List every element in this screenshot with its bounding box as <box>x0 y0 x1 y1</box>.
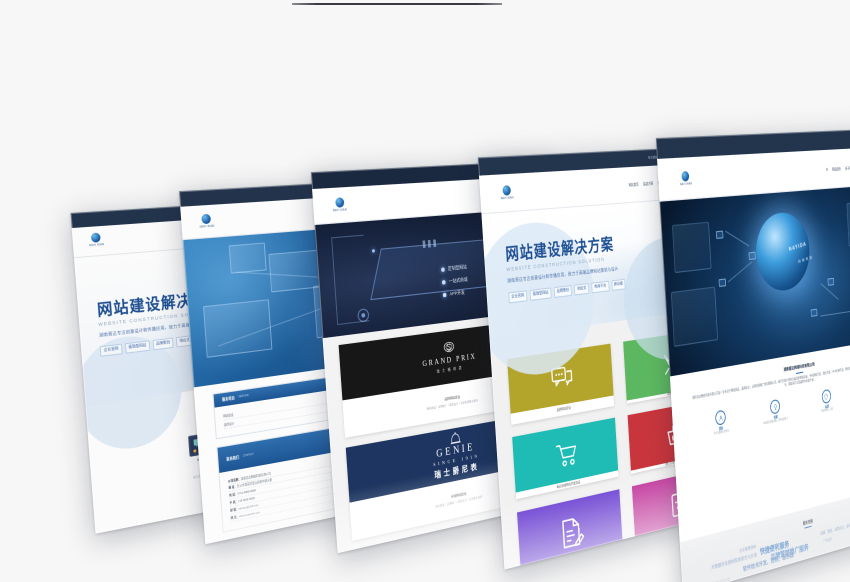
panel2-contact-label-4: 邮 箱： <box>230 508 239 513</box>
panel2-contact-value-3: 138 8888 8888 <box>238 497 255 504</box>
panel5-nav-item-1[interactable]: 关于我们 <box>845 165 850 171</box>
panel2-block-service-title-en: SERVICE <box>238 394 248 399</box>
nav-bullet-icon <box>826 167 828 170</box>
panel4-tag-0[interactable]: 企业官网 <box>508 290 528 303</box>
panel5-feature-0-desc: 专注互联网行业多年 <box>714 430 730 436</box>
panel3-logo[interactable]: NAYI XIAN <box>326 194 353 217</box>
panel3-logo-text: NAYI XIAN <box>333 208 347 212</box>
shopping-cart-icon <box>542 437 591 471</box>
panel5-feature-2-desc: 严格把控每一环节 <box>821 408 833 414</box>
panel2-logo[interactable]: NAYI XIAN <box>193 211 219 232</box>
panel1-logo-text: NAYI XIAN <box>89 243 104 247</box>
panel5-nav-item-0[interactable]: 网站首页 <box>832 165 841 171</box>
grand-prix-logo-icon <box>442 341 457 354</box>
panel5-logo-text: NAYI XIAN <box>680 182 692 186</box>
globe-node-2 <box>748 251 755 259</box>
panel4-tag-5[interactable]: 移动端 <box>611 279 626 291</box>
shield-icon <box>821 389 831 404</box>
panel2-block-service-title: 服务项目 <box>222 395 235 402</box>
globe-edge-1 <box>725 231 749 247</box>
panel3-hero-bars <box>423 240 437 249</box>
globe-node-3 <box>719 278 727 287</box>
lightbulb-icon <box>770 399 780 415</box>
globe-edge-4 <box>820 310 850 316</box>
panel2-contact-label-5: 网 址： <box>231 515 240 520</box>
panel2-block-contact-title-en: CONTACT <box>243 452 254 457</box>
panel4-logo-text: NAYI XIAN <box>501 197 514 201</box>
panel3-hero-node <box>372 249 375 253</box>
panel2-contact-label-0: 公司名称： <box>228 477 241 483</box>
cloud-tag-5[interactable]: 品牌、策划、创意设计、全网品牌推广 <box>820 520 850 536</box>
globe-bg-square-1 <box>672 222 711 273</box>
panel4-nav-item-0[interactable]: 网站首页 <box>628 182 638 188</box>
globe-bg-square-3 <box>847 200 850 246</box>
panel4-tag-4[interactable]: 电商平台 <box>591 280 609 293</box>
cloud-tag-8[interactable]: 网站建设运营 <box>715 577 730 582</box>
panel5-feature-0[interactable]: 团队 专注互联网行业多年 <box>695 406 746 440</box>
service-tile-4[interactable]: 软文推广 新闻 媒体发布 <box>517 489 624 570</box>
panel5-feature-1-desc: 原创设计精益求精，坚持品质至上 <box>764 418 789 426</box>
panel5-feature-1[interactable]: 创意 原创设计精益求精，坚持品质至上 <box>751 395 799 428</box>
globe-edge-2 <box>728 261 753 283</box>
panel5-hero-globe: NAYIDA 网络科技 <box>660 183 850 376</box>
panel4-logo[interactable]: NAYI XIAN <box>493 181 521 206</box>
website-mockup-panel-5[interactable]: 湖南营达网络科技有限公司 NAYI XIAN 网站首页 关于我们 服务项目 案例… <box>656 128 850 582</box>
panel2-contact-label-1: 地 址： <box>228 486 237 491</box>
panel5-feature-2[interactable]: 品质 严格把控每一环节 <box>804 386 849 418</box>
panel4-nav-item-1[interactable]: 建站方案 <box>643 181 653 187</box>
globe-node-5 <box>811 309 818 317</box>
panel2-contact-label-3: 手 机： <box>230 500 239 505</box>
bullet-dot-icon <box>443 293 446 297</box>
service-tile-4-color <box>517 489 623 570</box>
panel4-tag-3[interactable]: 响应式 <box>574 283 589 296</box>
user-icon <box>715 410 726 426</box>
showcase-stage: 专业网站建设 品牌网站设计 营销型网站制作 手机网站开发 NAYI XIAN 网… <box>0 0 850 582</box>
service-tile-2[interactable]: 电商商城网站开发建设 <box>512 418 619 500</box>
panel5-logo[interactable]: NAYI XIAN <box>671 164 699 191</box>
globe-edge-3 <box>820 283 838 300</box>
tech-rect-5 <box>229 243 267 274</box>
panel1-tag-2[interactable]: 品牌策划 <box>152 337 173 350</box>
globe-bg-square-2 <box>670 286 718 346</box>
globe-node-1 <box>716 231 724 240</box>
panel2-logo-text: NAYI XIAN <box>200 225 215 229</box>
panel5-about-divider <box>796 372 803 375</box>
panel1-logo[interactable]: NAYI XIAN <box>84 231 109 251</box>
panel2-block-contact-title: 联系我们 <box>226 454 239 462</box>
orb-logo-icon <box>91 233 101 243</box>
panel4-tag-2[interactable]: 品牌策划 <box>554 285 573 298</box>
globe-sphere-icon <box>754 210 812 294</box>
top-rule <box>292 3 502 5</box>
globe-node-4 <box>828 278 835 286</box>
orb-logo-icon <box>202 214 212 225</box>
grand-prix-name-cn: 瑞士格林表 <box>436 365 464 374</box>
document-edit-icon <box>547 512 596 553</box>
panel5-navlinks[interactable]: 网站首页 关于我们 服务项目 案例展示 联系我们 <box>826 162 850 171</box>
orb-logo-icon <box>502 186 511 197</box>
panel2-contact-label-2: 电 话： <box>229 493 238 498</box>
orb-logo-icon <box>335 198 344 209</box>
cloud-tag-6[interactable]: 广告设计 <box>823 536 833 544</box>
orb-logo-icon <box>682 170 690 181</box>
